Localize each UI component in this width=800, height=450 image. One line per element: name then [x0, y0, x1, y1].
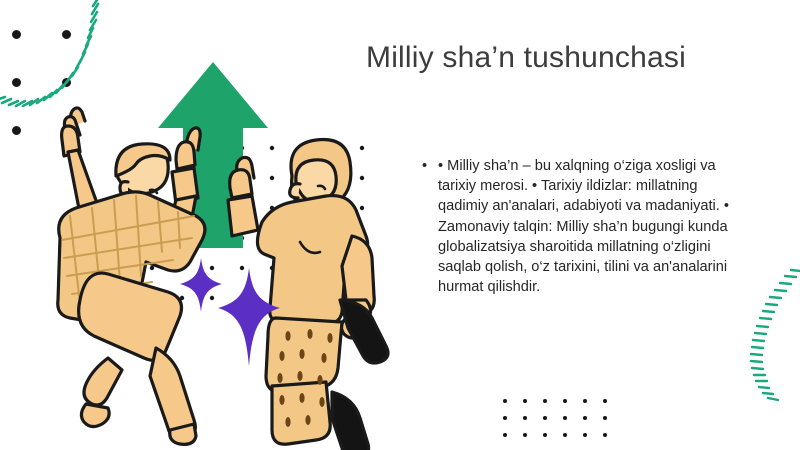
- bullet-marker: •: [422, 156, 427, 176]
- illustration-two-people-jumping: [0, 0, 420, 450]
- person-left: [58, 108, 205, 444]
- body-text-block: • • Milliy sha’n – bu xalqning o‘ziga xo…: [420, 156, 740, 297]
- slide-canvas: Milliy sha’n tushunchasi • • Milliy sha’…: [0, 0, 800, 450]
- dot-grid-bottom-right: [500, 396, 610, 444]
- body-paragraph-text: • Milliy sha’n – bu xalqning o‘ziga xosl…: [438, 158, 729, 295]
- hatched-arc-right-icon: [735, 268, 800, 408]
- body-paragraph: • • Milliy sha’n – bu xalqning o‘ziga xo…: [420, 156, 740, 297]
- page-title: Milliy sha’n tushunchasi: [366, 40, 786, 76]
